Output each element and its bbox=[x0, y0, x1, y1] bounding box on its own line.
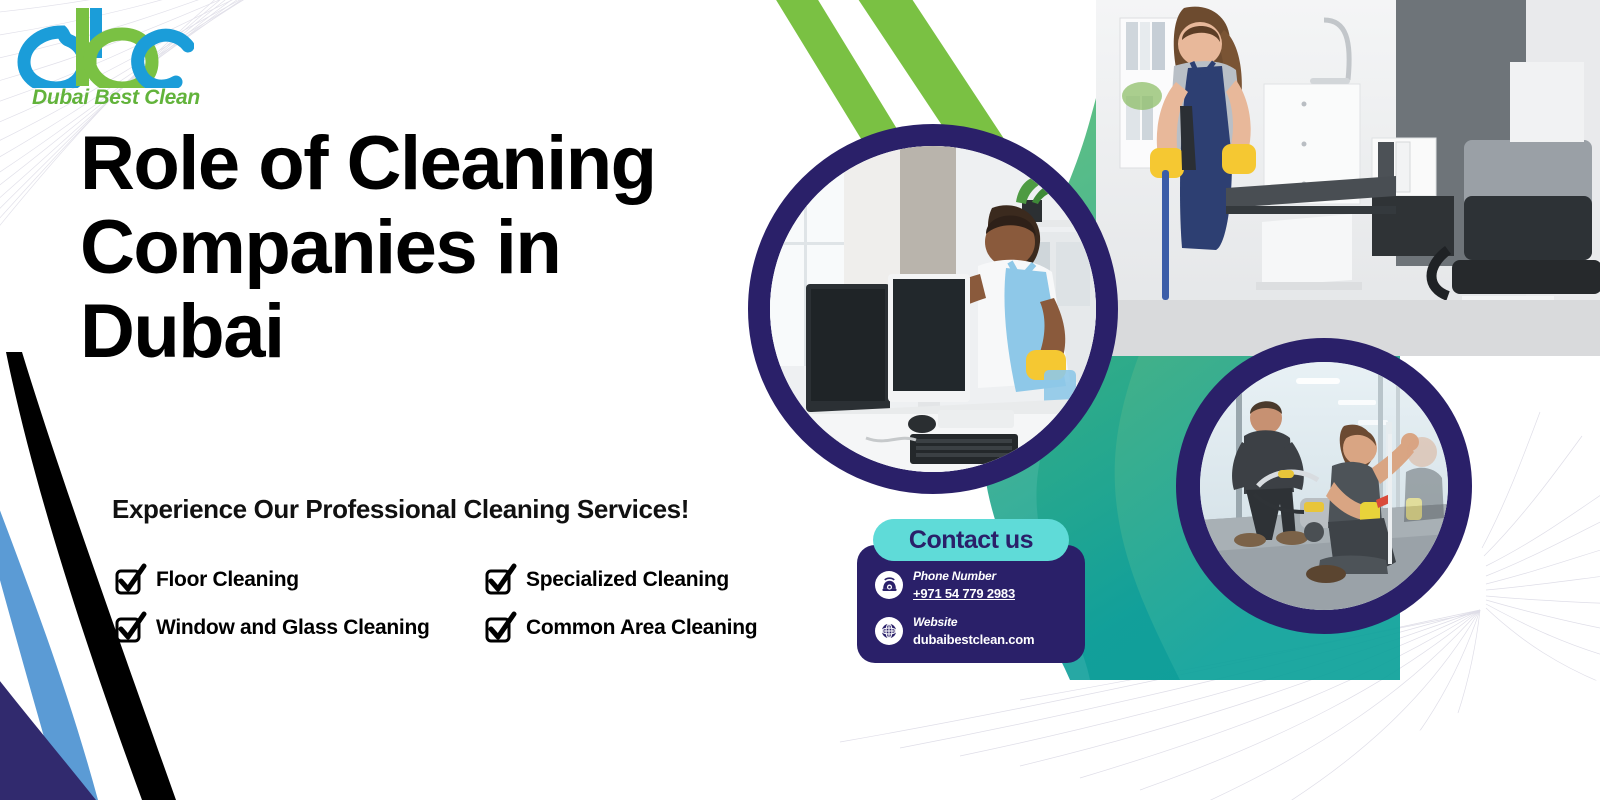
brand-logo[interactable]: Dubai Best Clean bbox=[14, 8, 194, 108]
features-row: Window and Glass Cleaning Common Area Cl… bbox=[112, 613, 812, 643]
phone-label: Phone Number bbox=[913, 569, 996, 583]
promotional-banner: Dubai Best Clean Role of Cleaning Compan… bbox=[0, 0, 1600, 800]
page-title: Role of Cleaning Companies in Dubai bbox=[80, 122, 700, 374]
feature-item-common-area-cleaning: Common Area Cleaning bbox=[482, 613, 757, 643]
bottom-right-white-curve bbox=[1330, 680, 1600, 800]
dbc-logo-icon bbox=[14, 8, 194, 88]
contact-us-badge: Contact us bbox=[873, 519, 1069, 561]
features-list: Floor Cleaning Specialized Cleaning bbox=[112, 565, 812, 661]
features-row: Floor Cleaning Specialized Cleaning bbox=[112, 565, 812, 595]
subtitle: Experience Our Professional Cleaning Ser… bbox=[112, 494, 689, 525]
feature-item-window-and-glass-cleaning: Window and Glass Cleaning bbox=[112, 613, 482, 643]
telephone-icon bbox=[875, 571, 903, 599]
checkbox-checked-icon bbox=[112, 613, 142, 643]
website-url[interactable]: dubaibestclean.com bbox=[913, 632, 1034, 647]
feature-label: Window and Glass Cleaning bbox=[156, 616, 430, 640]
globe-icon bbox=[875, 617, 903, 645]
contact-website-row[interactable]: Website dubaibestclean.com bbox=[875, 613, 1034, 649]
photo-cleaners-glass-and-floor bbox=[1176, 338, 1472, 634]
contact-us-label: Contact us bbox=[909, 526, 1033, 555]
phone-number[interactable]: +971 54 779 2983 bbox=[913, 586, 1015, 601]
feature-label: Floor Cleaning bbox=[156, 568, 299, 592]
contact-card: Phone Number +971 54 779 2983 Website du… bbox=[857, 545, 1085, 663]
checkbox-checked-icon bbox=[112, 565, 142, 595]
feature-item-specialized-cleaning: Specialized Cleaning bbox=[482, 565, 729, 595]
photo-cleaner-wiping-monitors bbox=[748, 124, 1118, 494]
feature-label: Specialized Cleaning bbox=[526, 568, 729, 592]
checkbox-checked-icon bbox=[482, 613, 512, 643]
checkbox-checked-icon bbox=[482, 565, 512, 595]
contact-phone-row[interactable]: Phone Number +971 54 779 2983 bbox=[875, 567, 1015, 603]
feature-item-floor-cleaning: Floor Cleaning bbox=[112, 565, 482, 595]
website-label: Website bbox=[913, 615, 957, 629]
feature-label: Common Area Cleaning bbox=[526, 616, 757, 640]
photo-office-cleaner-mopping bbox=[1096, 0, 1600, 356]
brand-name: Dubai Best Clean bbox=[32, 86, 200, 110]
